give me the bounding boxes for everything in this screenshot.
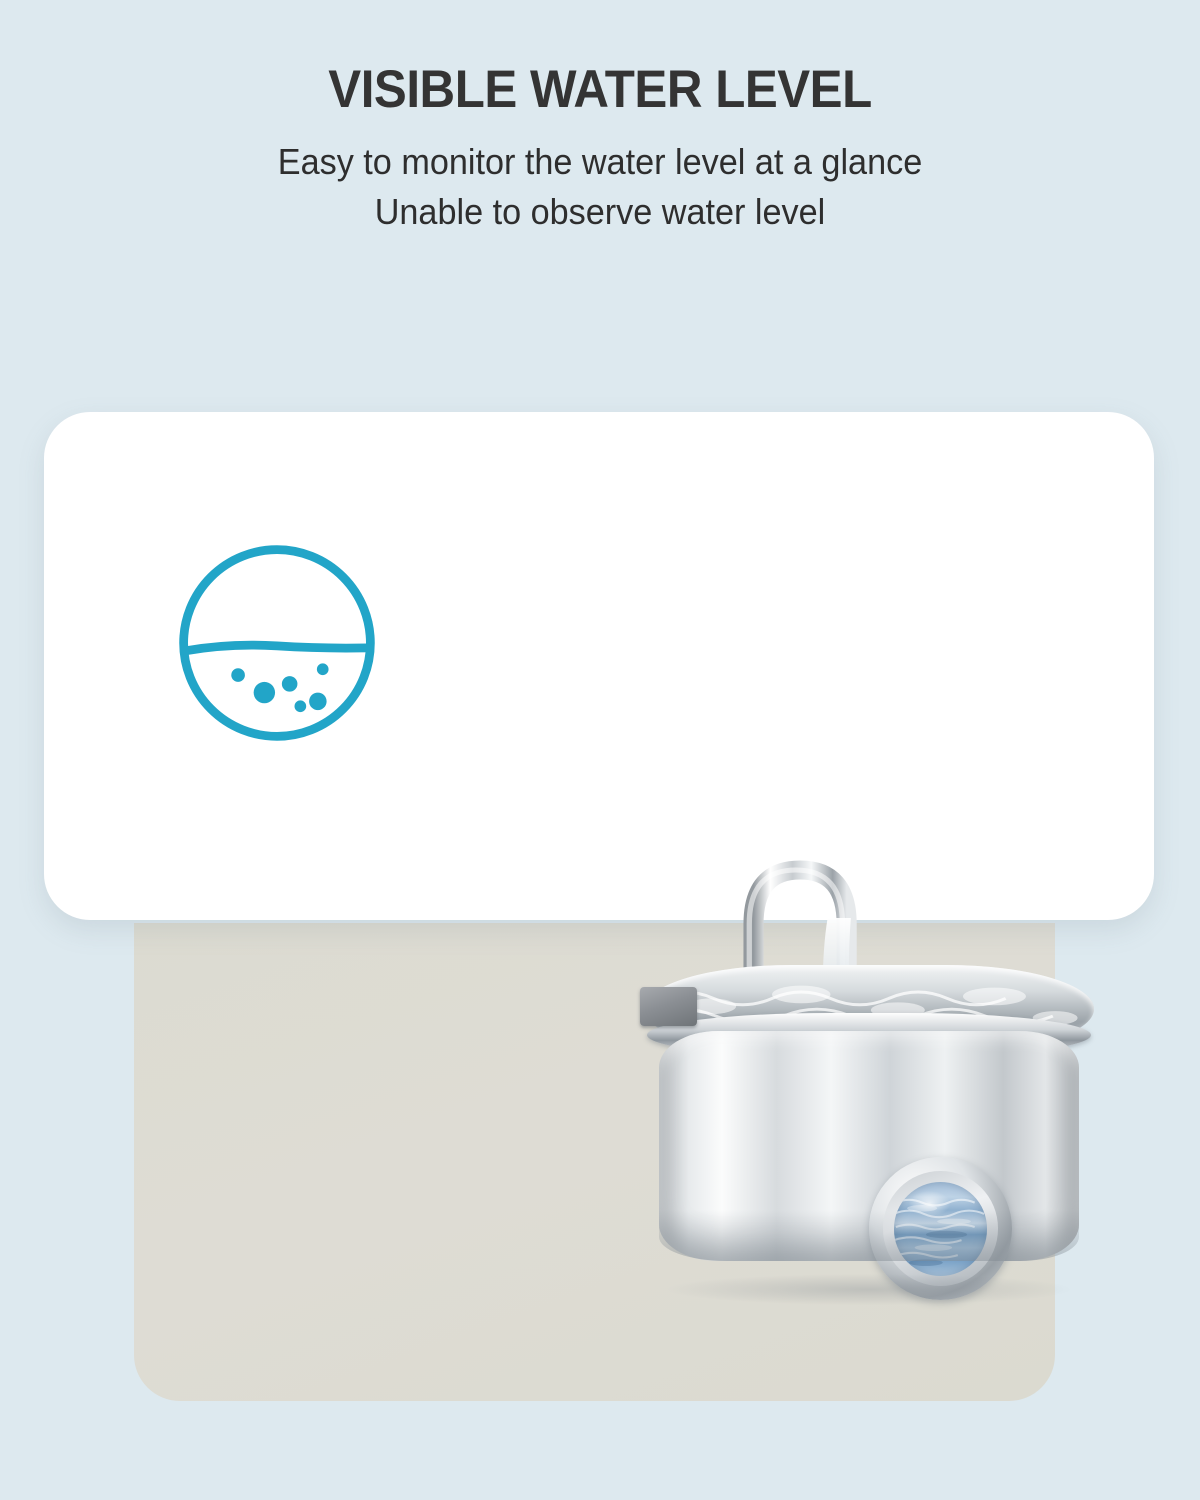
contact-shadow xyxy=(668,1274,1070,1305)
power-connector-icon xyxy=(640,987,697,1027)
water-level-window-ring xyxy=(883,1171,997,1285)
window-glare xyxy=(909,1191,950,1215)
water-level-window-glass xyxy=(894,1182,988,1276)
subtitle-line-1: Easy to monitor the water level at a gla… xyxy=(30,140,1170,184)
comparison-panel-positive xyxy=(44,412,1154,920)
water-level-circle-icon xyxy=(170,536,384,750)
product-image-with-window xyxy=(630,854,1108,1296)
fountain-tank xyxy=(659,1031,1080,1261)
subtitle-line-2: Unable to observe water level xyxy=(30,190,1170,234)
page-title: VISIBLE WATER LEVEL xyxy=(42,62,1158,118)
header: VISIBLE WATER LEVEL Easy to monitor the … xyxy=(0,0,1200,234)
